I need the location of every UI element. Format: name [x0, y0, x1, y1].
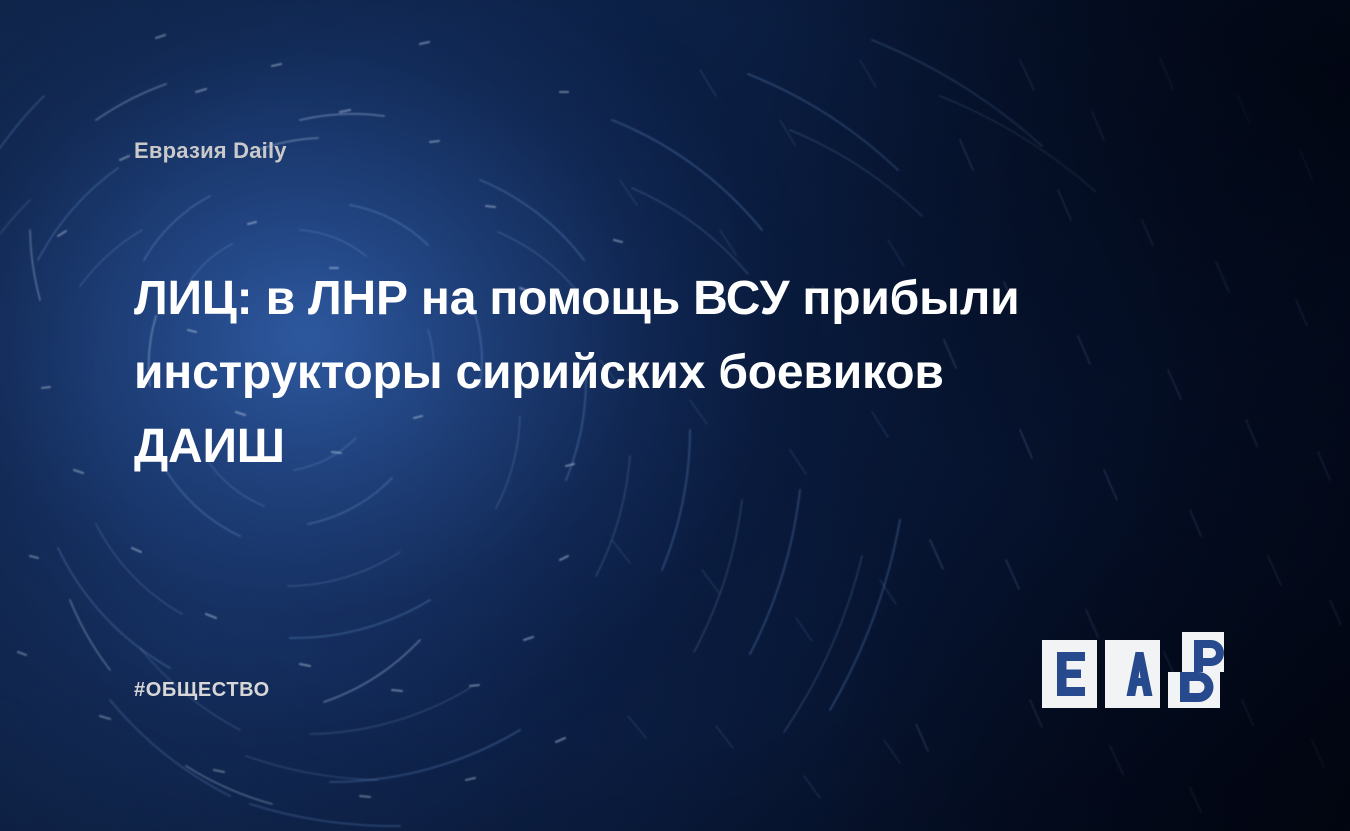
category-tag[interactable]: #ОБЩЕСТВО — [134, 679, 270, 702]
card-content: Евразия Daily ЛИЦ: в ЛНР на помощь ВСУ п… — [0, 0, 1350, 831]
headline-line-3: ДАИШ — [134, 410, 1144, 484]
headline-line-1: ЛИЦ: в ЛНР на помощь ВСУ прибыли — [134, 262, 1144, 336]
news-card: Евразия Daily ЛИЦ: в ЛНР на помощь ВСУ п… — [0, 0, 1350, 831]
eadaily-logo[interactable] — [1042, 632, 1224, 708]
headline-line-2: инструкторы сирийских боевиков — [134, 336, 1144, 410]
page-title: ЛИЦ: в ЛНР на помощь ВСУ прибыли инструк… — [134, 262, 1144, 484]
brand-name: Евразия Daily — [134, 138, 287, 164]
